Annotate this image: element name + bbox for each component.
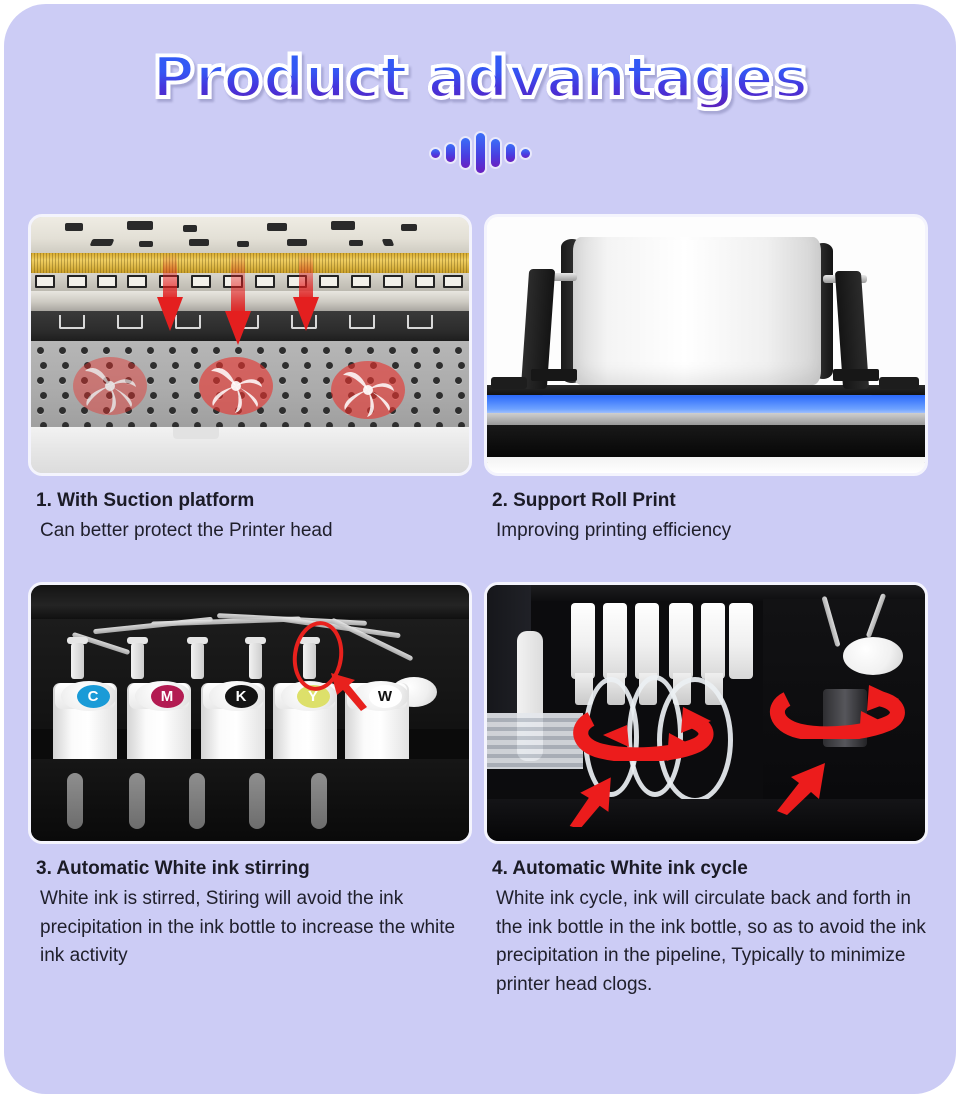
circulation-arrow-icon [571,699,721,761]
printhead-row [31,273,469,291]
waveform-bar [431,149,440,158]
bottle-cap: M [135,681,191,711]
ink-color-label: W [369,685,402,708]
vacuum-hole [62,392,69,399]
waveform-bar [446,144,455,162]
ink-cycle-photo [484,582,928,844]
pointer-arrow-icon [773,745,839,820]
vacuum-hole [455,347,462,354]
vacuum-hole [37,347,44,354]
ink-bottle: M [127,683,191,769]
ink-valve [71,643,84,679]
feature-caption: 2. Support Roll Print Improving printing… [484,488,928,546]
vacuum-hole [40,362,47,369]
vacuum-hole [301,347,308,354]
vacuum-hole [411,347,418,354]
ink-bottle-tray-photo: C M K [28,582,472,844]
vacuum-hole [59,407,66,414]
vacuum-hole [191,407,198,414]
vacuum-hole [282,392,289,399]
vacuum-hole [458,362,465,369]
ink-bottle: C [53,683,117,769]
vacuum-hole [455,377,462,384]
feature-title: 4. Automatic White ink cycle [492,856,928,882]
vacuum-hole [304,362,311,369]
vacuum-hole [323,377,330,384]
waveform-divider [4,132,956,174]
feature-body: White ink cycle, ink will circulate back… [492,885,928,1001]
ribbon-cable [31,253,469,273]
roll-print-photo [484,214,928,476]
bottle-cap: C [61,681,117,711]
vacuum-hole [433,407,440,414]
vacuum-hole [213,347,220,354]
feature-title: 3. Automatic White ink stirring [36,856,472,882]
vacuum-hole [59,347,66,354]
feature-title: 2. Support Roll Print [492,488,928,514]
media-roll [573,237,821,385]
waveform-bar [461,138,470,168]
feature-caption: 1. With Suction platform Can better prot… [28,488,472,546]
feature-card-white-ink-stirring: C M K [28,582,472,971]
vacuum-hole [433,377,440,384]
pointer-arrow-icon [309,663,369,711]
vacuum-hole [304,392,311,399]
vacuum-hole [37,407,44,414]
ink-damper [669,603,693,679]
vacuum-hole [147,407,154,414]
suction-fan-icon [73,357,147,415]
vacuum-hole [169,347,176,354]
guide-rails [487,713,583,769]
vacuum-hole [172,392,179,399]
vacuum-hole [323,407,330,414]
vacuum-hole [279,347,286,354]
ink-damper [729,603,753,679]
vacuum-hole [147,377,154,384]
ink-damper [603,603,627,679]
vacuum-hole [150,362,157,369]
circulation-arrow-icon [769,681,907,739]
vacuum-hole [169,377,176,384]
vacuum-hole [62,362,69,369]
vacuum-hole [81,347,88,354]
vacuum-hole [345,347,352,354]
bottle-tray [31,759,469,841]
feature-card-roll-print: 2. Support Roll Print Improving printing… [484,214,928,546]
page-title: Product advantages [4,50,956,107]
vacuum-hole [301,407,308,414]
vacuum-hole [169,407,176,414]
feature-body: White ink is stirred, Stiring will avoid… [36,885,472,972]
vacuum-hole [414,392,421,399]
ink-damper [701,603,725,679]
ink-valve [131,643,144,679]
vacuum-hole [172,362,179,369]
feature-card-white-ink-cycle: 4. Automatic White ink cycle White ink c… [484,582,928,1000]
vacuum-hole [257,347,264,354]
vacuum-hole [279,407,286,414]
vacuum-hole [125,347,132,354]
ink-color-label: C [77,685,110,708]
ink-color-label: K [225,685,258,708]
waveform-bar [491,139,500,167]
vacuum-hole [103,347,110,354]
ink-valve [249,643,262,679]
feature-body: Improving printing efficiency [492,517,928,546]
vacuum-hole [282,362,289,369]
vacuum-hole [433,347,440,354]
vacuum-hole [235,347,242,354]
vacuum-hole [411,377,418,384]
vacuum-hole [458,392,465,399]
vacuum-hole [191,347,198,354]
vacuum-hole [37,377,44,384]
vacuum-hole [191,377,198,384]
feature-caption: 3. Automatic White ink stirring White in… [28,856,472,971]
waveform-bar [506,144,515,162]
vacuum-hole [436,362,443,369]
page-header: Product advantages [4,4,956,194]
vacuum-hole [455,407,462,414]
vacuum-hole [279,377,286,384]
vacuum-hole [411,407,418,414]
page-root: Product advantages [0,0,960,1098]
waveform-bar [476,133,485,173]
vacuum-hole [301,377,308,384]
ink-damper [571,603,595,679]
bottle-cap: K [209,681,265,711]
suction-platform-photo [28,214,472,476]
vacuum-hole [367,347,374,354]
content-panel: Product advantages [4,4,956,1094]
vacuum-hole [436,392,443,399]
ink-color-label: M [151,685,184,708]
vacuum-hole [40,392,47,399]
ink-reservoir-cap [843,637,903,675]
vacuum-hole [59,377,66,384]
ink-bottle: K [201,683,265,769]
pointer-arrow-icon [563,765,631,832]
feature-title: 1. With Suction platform [36,488,472,514]
feature-body: Can better protect the Printer head [36,517,472,546]
ink-valve [191,643,204,679]
waveform-bar [521,149,530,158]
feature-card-suction-platform: 1. With Suction platform Can better prot… [28,214,472,546]
vacuum-hole [414,362,421,369]
feature-caption: 4. Automatic White ink cycle White ink c… [484,856,928,1000]
carriage-nubs [31,221,469,249]
vacuum-hole [150,392,157,399]
vacuum-hole [147,347,154,354]
ink-damper [635,603,659,679]
suction-fan-icon [331,361,405,419]
suction-fan-icon [199,357,273,415]
vacuum-hole [389,347,396,354]
vacuum-hole [323,347,330,354]
